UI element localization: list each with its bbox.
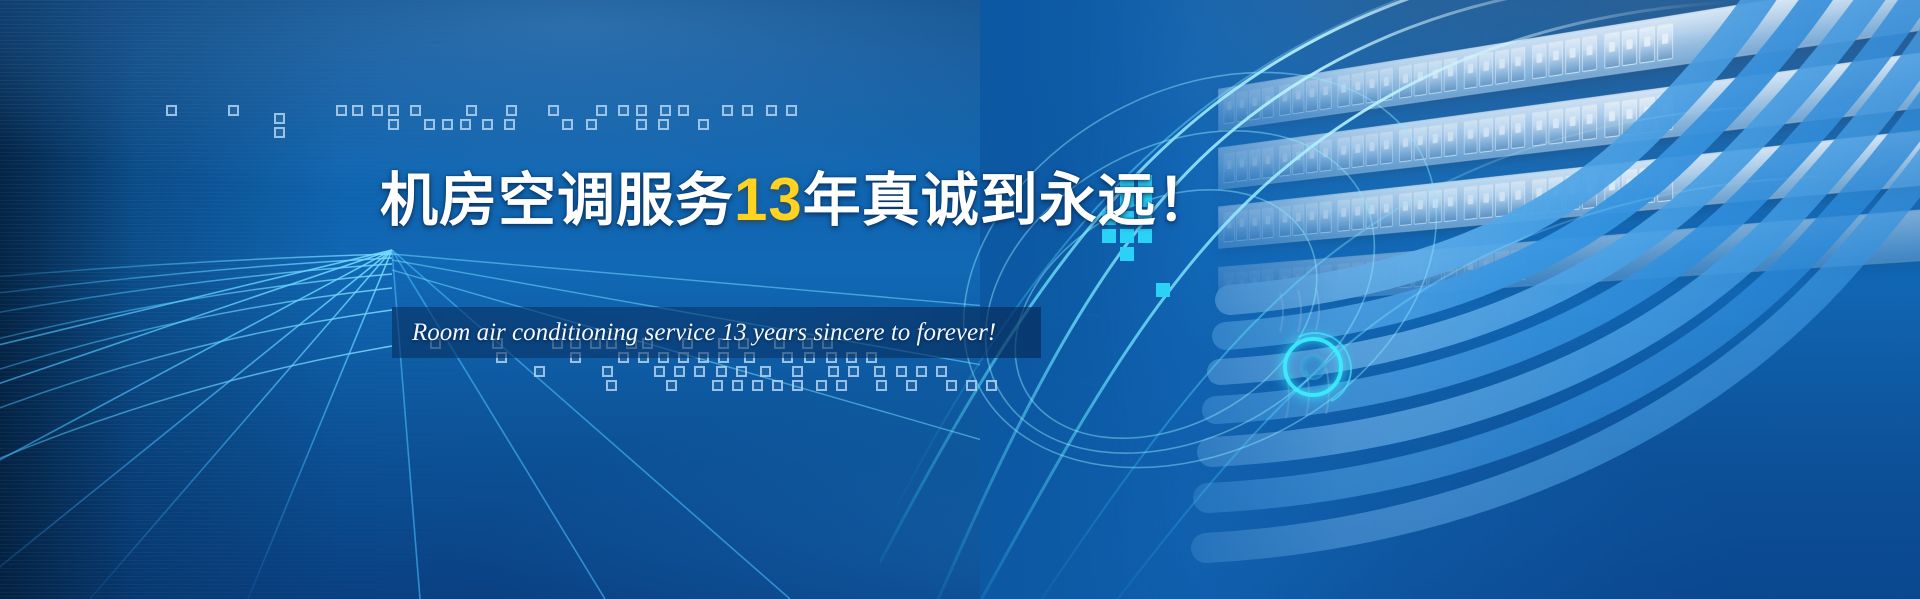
- headline-years-number: 13: [734, 166, 803, 233]
- subtitle-text: Room air conditioning service 13 years s…: [412, 307, 1032, 358]
- pixel-squares-top: [166, 105, 566, 137]
- page-title: 机房空调服务13年真诚到永远！: [380, 168, 1216, 233]
- promo-banner: 机房空调服务13年真诚到永远！ Room air conditioning se…: [0, 0, 1920, 599]
- headline-suffix: 年真诚到永远！: [803, 168, 1216, 233]
- glowing-tech-ring-icon: [1283, 337, 1343, 397]
- light-arcs: [880, 0, 1920, 599]
- headline-prefix: 机房空调服务: [380, 168, 734, 233]
